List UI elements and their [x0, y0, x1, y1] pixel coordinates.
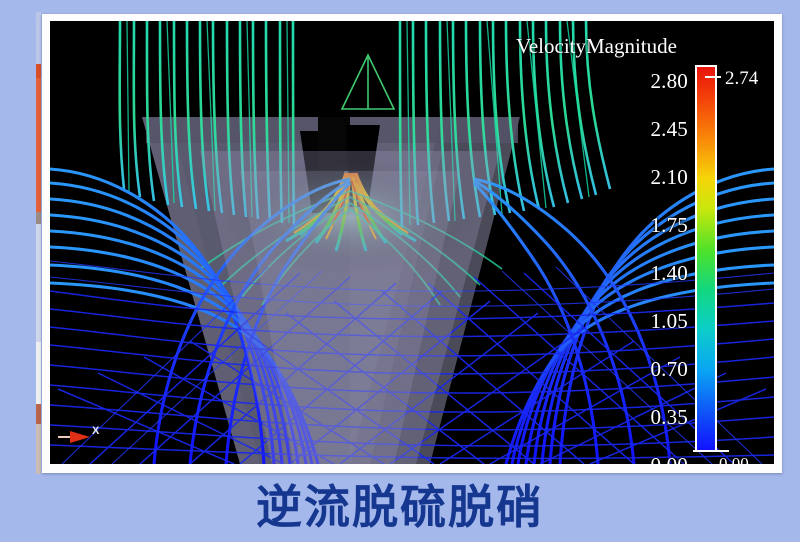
colorbar-tick: 2.80	[650, 69, 688, 94]
colorbar-tick: 0.70	[650, 357, 688, 382]
colorbar-min-label: 0.00	[719, 454, 749, 464]
window-edge-strip	[36, 12, 41, 474]
colorbar-tick: 0.35	[650, 405, 688, 430]
figure-caption: 逆流脱硫脱硝	[0, 478, 800, 536]
screenshot-stage: VelocityMagnitude 2.80 2.45 2.10 1.75 1.…	[0, 0, 800, 542]
colorbar-tick: 1.40	[650, 261, 688, 286]
colorbar-tick-labels: 2.80 2.45 2.10 1.75 1.40 1.05 0.70 0.35 …	[528, 57, 688, 464]
colorbar-gradient	[695, 65, 717, 452]
colorbar-title: VelocityMagnitude	[516, 34, 677, 59]
colorbar-min-tick-icon	[693, 450, 729, 452]
colorbar-tick: 1.75	[650, 213, 688, 238]
image-frame: VelocityMagnitude 2.80 2.45 2.10 1.75 1.…	[42, 14, 782, 473]
axis-orientation-indicator: X	[56, 425, 112, 449]
colorbar-tick: 2.10	[650, 165, 688, 190]
colorbar[interactable]: 2.74 0.00	[695, 65, 745, 464]
axis-label-x: X	[92, 425, 99, 437]
colorbar-tick: 2.45	[650, 117, 688, 142]
colorbar-tick: 0.00	[650, 453, 688, 464]
cfd-plot-area: VelocityMagnitude 2.80 2.45 2.10 1.75 1.…	[50, 21, 774, 464]
colorbar-max-tick-icon	[705, 76, 721, 78]
x-axis-arrow-icon	[56, 425, 112, 449]
colorbar-tick: 1.05	[650, 309, 688, 334]
colorbar-max-label: 2.74	[725, 68, 758, 90]
